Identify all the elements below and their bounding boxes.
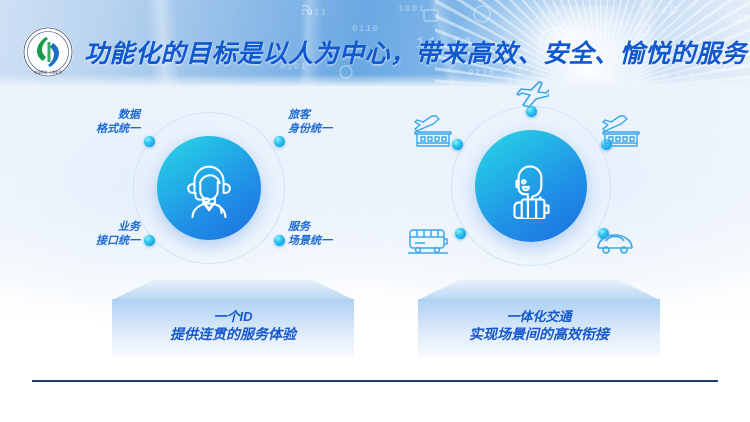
slide-root: 1011 0110 1001 11 11 101 0 1 1101 1 1 01… (0, 0, 750, 422)
panel-integrated-transport (398, 86, 678, 276)
node-label-passenger-identity: 旅客 身份统一 (288, 108, 346, 136)
pedestal-top-face (418, 280, 660, 300)
traveler-with-luggage-icon (498, 153, 564, 219)
pedestal-caption: 一体化交通 实现场景间的高效衔接 (418, 308, 660, 344)
pedestal-caption-line2: 提供连贯的服务体验 (112, 325, 354, 344)
node-dot-top-right (274, 136, 285, 147)
pedestal-top-face (112, 280, 354, 300)
node-dot-bottom-right (274, 235, 285, 246)
airport-terminal-icon (412, 112, 454, 148)
center-orb-right (475, 130, 587, 242)
node-dot-bottom-left (144, 235, 155, 246)
company-logo-icon: 中国民航 上海机场 (22, 26, 74, 78)
node-label-line1: 数据 (84, 108, 140, 122)
node-label-line2: 格式统一 (84, 122, 140, 136)
page-title: 功能化的目标是以人为中心，带来高效、安全、愉悦的服务体验 (84, 28, 750, 76)
bus-icon (406, 226, 450, 258)
node-label-service-scenario: 服务 场景统一 (288, 220, 346, 248)
panel-one-id: 数据 格式统一 旅客 身份统一 业务 接口统一 服务 场景统一 (92, 96, 362, 276)
footer-divider (32, 380, 718, 382)
node-label-line2: 场景统一 (288, 234, 346, 248)
node-label-business-interface: 业务 接口统一 (84, 220, 140, 248)
pedestal-caption: 一个ID 提供连贯的服务体验 (112, 308, 354, 344)
slide-header: 1011 0110 1001 11 11 101 0 1 1101 1 1 01… (0, 0, 750, 88)
node-dot-top-left (144, 136, 155, 147)
node-label-data-format: 数据 格式统一 (84, 108, 140, 136)
node-label-line2: 接口统一 (84, 234, 140, 248)
node-label-line1: 业务 (84, 220, 140, 234)
node-label-line2: 身份统一 (288, 122, 346, 136)
node-label-line1: 服务 (288, 220, 346, 234)
center-orb-left (157, 136, 261, 240)
airplane-icon (515, 80, 549, 110)
pedestal-caption-line1: 一个ID (112, 308, 354, 325)
pedestal-integrated-transport: 一体化交通 实现场景间的高效衔接 (418, 280, 660, 356)
headset-service-agent-icon (178, 157, 240, 219)
pedestal-caption-line2: 实现场景间的高效衔接 (418, 325, 660, 344)
pedestal-one-id: 一个ID 提供连贯的服务体验 (112, 280, 354, 356)
node-label-line1: 旅客 (288, 108, 346, 122)
airport-terminal-icon (600, 112, 642, 148)
node-dot-bottom-left (455, 228, 466, 239)
car-icon (594, 228, 636, 258)
svg-text:中国民航 上海机场: 中国民航 上海机场 (34, 70, 63, 75)
pedestal-caption-line1: 一体化交通 (418, 308, 660, 325)
